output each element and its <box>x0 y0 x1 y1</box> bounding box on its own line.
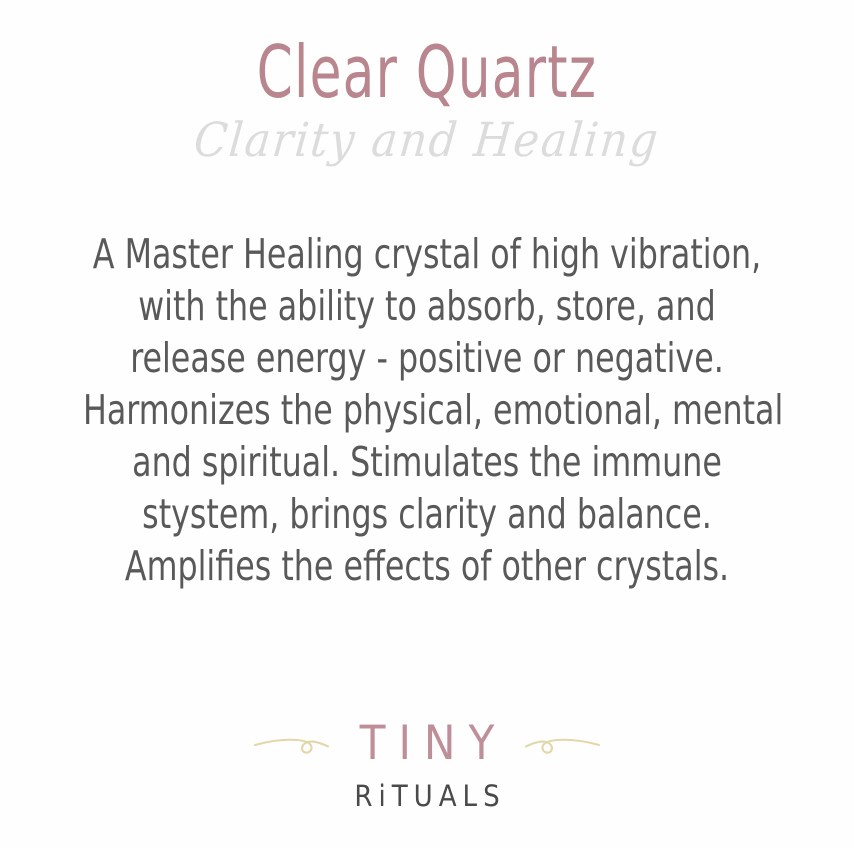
brand-name: TINY <box>347 720 508 767</box>
description-line: A Master Healing crystal of high vibrati… <box>83 228 771 280</box>
page-title: Clear Quartz <box>257 34 598 110</box>
flourish-swash-right-icon <box>513 726 601 760</box>
page-subtitle: Clarity and Healing <box>192 116 662 165</box>
description-line: and spiritual. Stimulates the immune <box>83 436 771 488</box>
description-line: Harmonizes the physical, emotional, ment… <box>83 384 771 436</box>
brand-logo-top-row: TINY <box>253 716 602 770</box>
description-line: release energy - positive or negative. <box>83 332 771 384</box>
flourish-swash-left-icon <box>253 726 341 760</box>
crystal-info-card: Clear Quartz Clarity and Healing A Maste… <box>0 0 854 848</box>
description-line: with the ability to absorb, store, and <box>83 280 771 332</box>
description-line: Amplifies the effects of other crystals. <box>83 540 771 592</box>
brand-tagline: RiTUALS <box>348 782 505 811</box>
crystal-description: A Master Healing crystal of high vibrati… <box>27 228 827 592</box>
description-line: stystem, brings clarity and balance. <box>83 488 771 540</box>
brand-logo: TINY RiTUALS <box>0 716 854 811</box>
